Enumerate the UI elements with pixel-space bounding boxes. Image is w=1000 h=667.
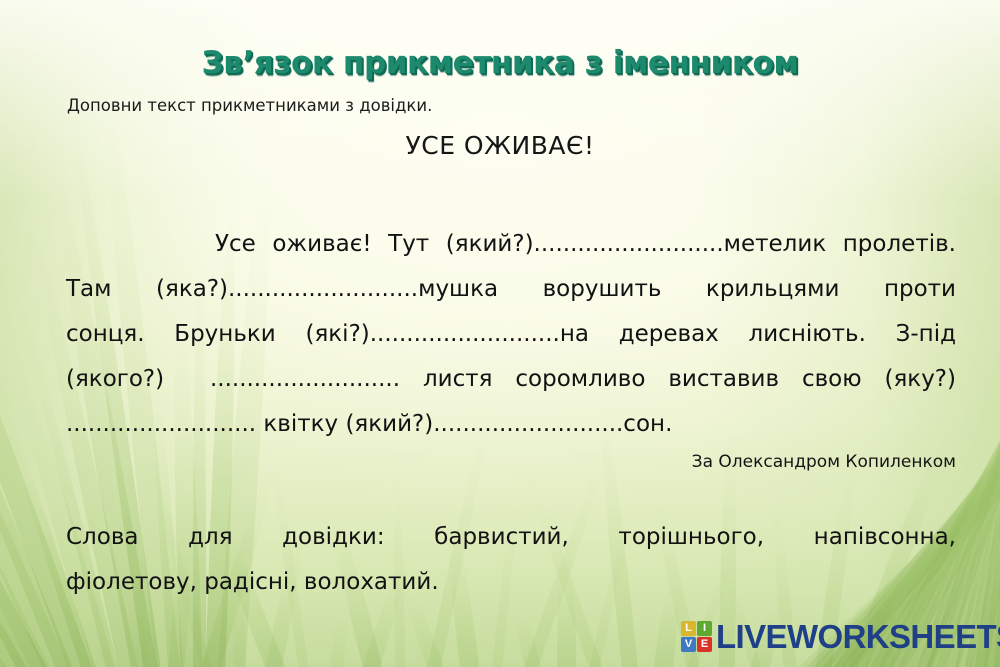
story-line: Усе оживає! Тут (який?).................… — [66, 222, 956, 267]
story-line: Там (яка?)..........................мушк… — [66, 267, 956, 312]
logo-wordmark: LIVEWORKSHEETS — [716, 620, 1000, 653]
word-bank-line: Слова для довідки: барвистий, торішнього… — [66, 515, 956, 560]
attribution-text: За Олександром Копиленком — [0, 452, 956, 472]
worksheet-page: Зв’язок прикметника з іменником Доповни … — [0, 0, 1000, 667]
word-bank: Слова для довідки: барвистий, торішнього… — [66, 515, 956, 605]
liveworksheets-logo[interactable]: L I V E LIVEWORKSHEETS — [681, 620, 1000, 653]
worksheet-content: Зв’язок прикметника з іменником Доповни … — [0, 0, 1000, 667]
story-line: (якого?) .......................... лист… — [66, 357, 956, 402]
story-line: сонця. Бруньки (які?)...................… — [66, 312, 956, 357]
logo-tile-i: I — [697, 621, 712, 636]
logo-tile-e: E — [697, 637, 712, 652]
instruction-text: Доповни текст прикметниками з довідки. — [67, 96, 432, 115]
story-heading: УСЕ ОЖИВАЄ! — [0, 131, 1000, 160]
logo-tile-l: L — [681, 621, 696, 636]
story-line: .......................... квітку (який?… — [66, 402, 956, 447]
logo-tile-v: V — [681, 637, 696, 652]
page-title: Зв’язок прикметника з іменником — [0, 45, 1000, 81]
word-bank-line: фіолетову, радісні, волохатий. — [66, 560, 956, 605]
logo-tiles: L I V E — [681, 621, 712, 652]
story-text: Усе оживає! Тут (який?).................… — [66, 222, 956, 447]
